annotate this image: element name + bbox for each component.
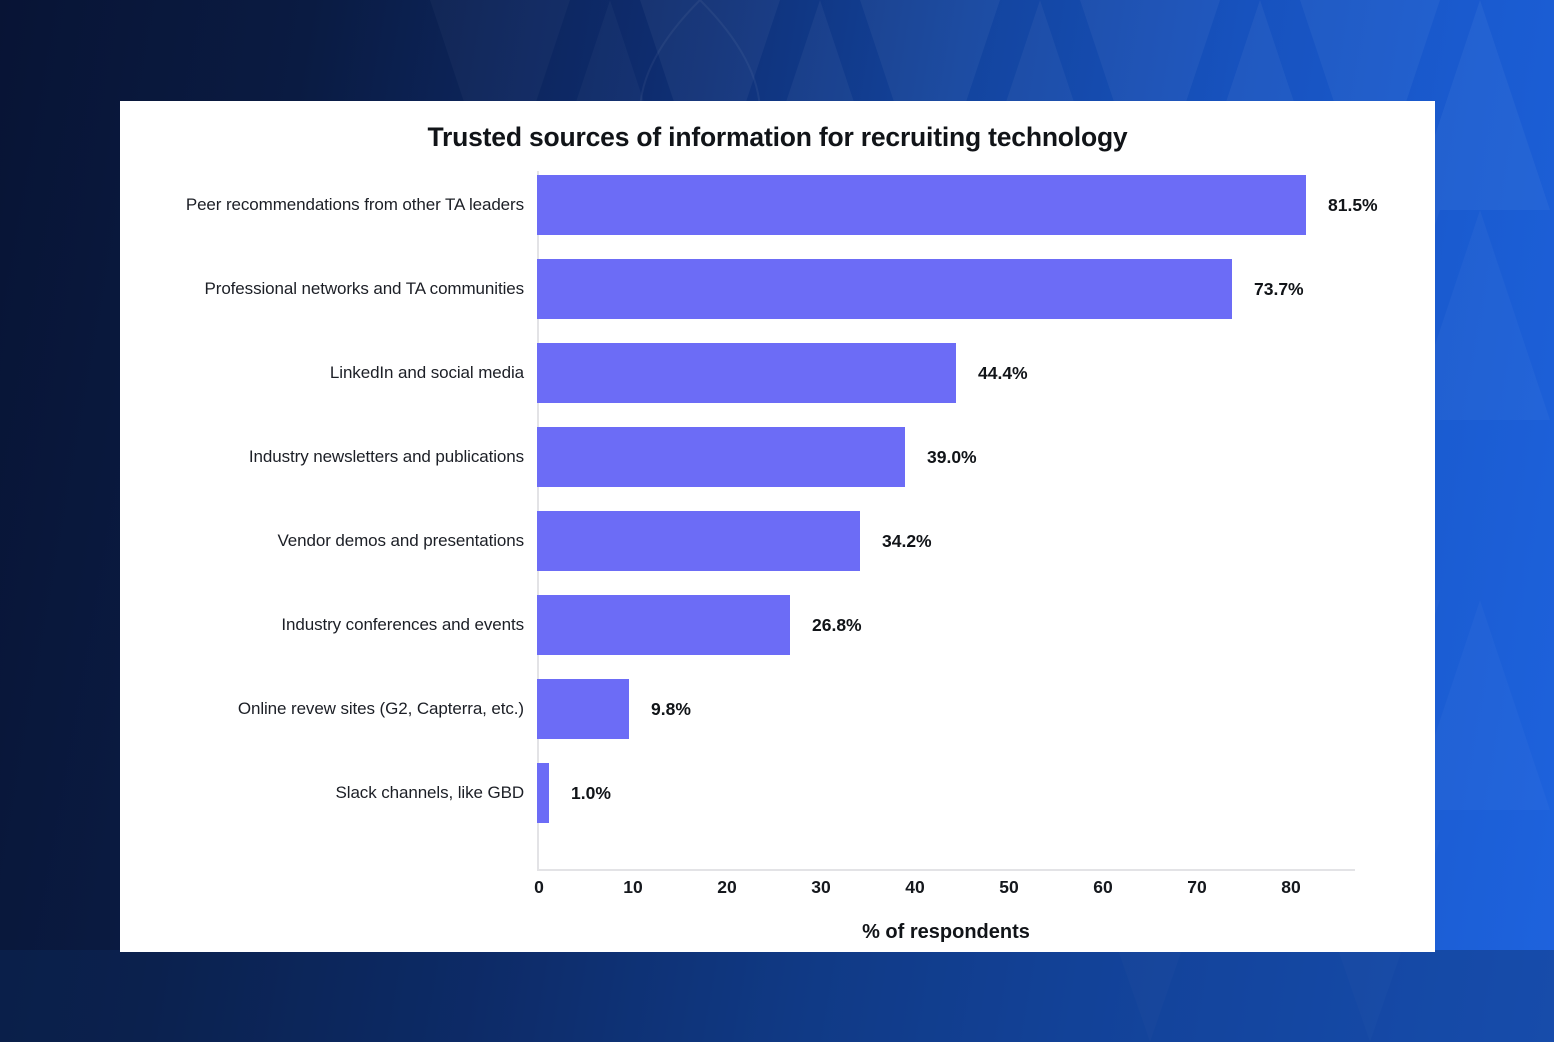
bar-row: Slack channels, like GBD 1.0% [120, 751, 1435, 835]
bar-row: Vendor demos and presentations 34.2% [120, 499, 1435, 583]
bar-row: LinkedIn and social media 44.4% [120, 331, 1435, 415]
bar-value-label: 73.7% [1254, 279, 1304, 300]
bar-group: 1.0% [537, 751, 611, 835]
category-label: Online revew sites (G2, Capterra, etc.) [238, 667, 537, 751]
bar-value-label: 1.0% [571, 783, 611, 804]
bar-group: 81.5% [537, 163, 1378, 247]
bar-value-label: 81.5% [1328, 195, 1378, 216]
x-tick-label: 60 [1093, 877, 1112, 898]
bar-group: 9.8% [537, 667, 691, 751]
bar-group: 44.4% [537, 331, 1028, 415]
x-tick-label: 10 [623, 877, 642, 898]
bar-value-label: 39.0% [927, 447, 977, 468]
category-label: Industry newsletters and publications [249, 415, 537, 499]
chart-plot-area: Peer recommendations from other TA leade… [120, 163, 1435, 952]
x-tick-label: 80 [1281, 877, 1300, 898]
x-tick-label: 40 [905, 877, 924, 898]
bar-row: Industry newsletters and publications 39… [120, 415, 1435, 499]
category-label: LinkedIn and social media [330, 331, 537, 415]
category-label: Vendor demos and presentations [277, 499, 537, 583]
x-tick-label: 50 [999, 877, 1018, 898]
x-tick-label: 70 [1187, 877, 1206, 898]
bar[interactable] [537, 595, 790, 655]
x-tick-label: 20 [717, 877, 736, 898]
chart-card: Trusted sources of information for recru… [120, 101, 1435, 952]
x-tick-label: 30 [811, 877, 830, 898]
bar-row: Industry conferences and events 26.8% [120, 583, 1435, 667]
bar-group: 39.0% [537, 415, 977, 499]
bar[interactable] [537, 427, 905, 487]
x-axis-line [537, 869, 1355, 871]
x-axis-title: % of respondents [537, 921, 1355, 944]
bar-row: Professional networks and TA communities… [120, 247, 1435, 331]
category-label: Industry conferences and events [281, 583, 537, 667]
bar-group: 73.7% [537, 247, 1304, 331]
bar-group: 26.8% [537, 583, 862, 667]
bar-row: Peer recommendations from other TA leade… [120, 163, 1435, 247]
bar-value-label: 9.8% [651, 699, 691, 720]
bar[interactable] [537, 343, 956, 403]
bar-value-label: 44.4% [978, 363, 1028, 384]
category-label: Professional networks and TA communities [205, 247, 537, 331]
chart-title: Trusted sources of information for recru… [120, 122, 1435, 153]
bar-group: 34.2% [537, 499, 932, 583]
category-label: Peer recommendations from other TA leade… [186, 163, 537, 247]
x-axis-ticks: 0 10 20 30 40 50 60 70 80 [537, 877, 1355, 907]
bar-value-label: 26.8% [812, 615, 862, 636]
category-label: Slack channels, like GBD [336, 751, 537, 835]
bar[interactable] [537, 511, 860, 571]
bar[interactable] [537, 763, 549, 823]
x-tick-label: 0 [534, 877, 544, 898]
bar[interactable] [537, 175, 1306, 235]
bar[interactable] [537, 259, 1232, 319]
bar-value-label: 34.2% [882, 531, 932, 552]
bar-row: Online revew sites (G2, Capterra, etc.) … [120, 667, 1435, 751]
bar[interactable] [537, 679, 629, 739]
